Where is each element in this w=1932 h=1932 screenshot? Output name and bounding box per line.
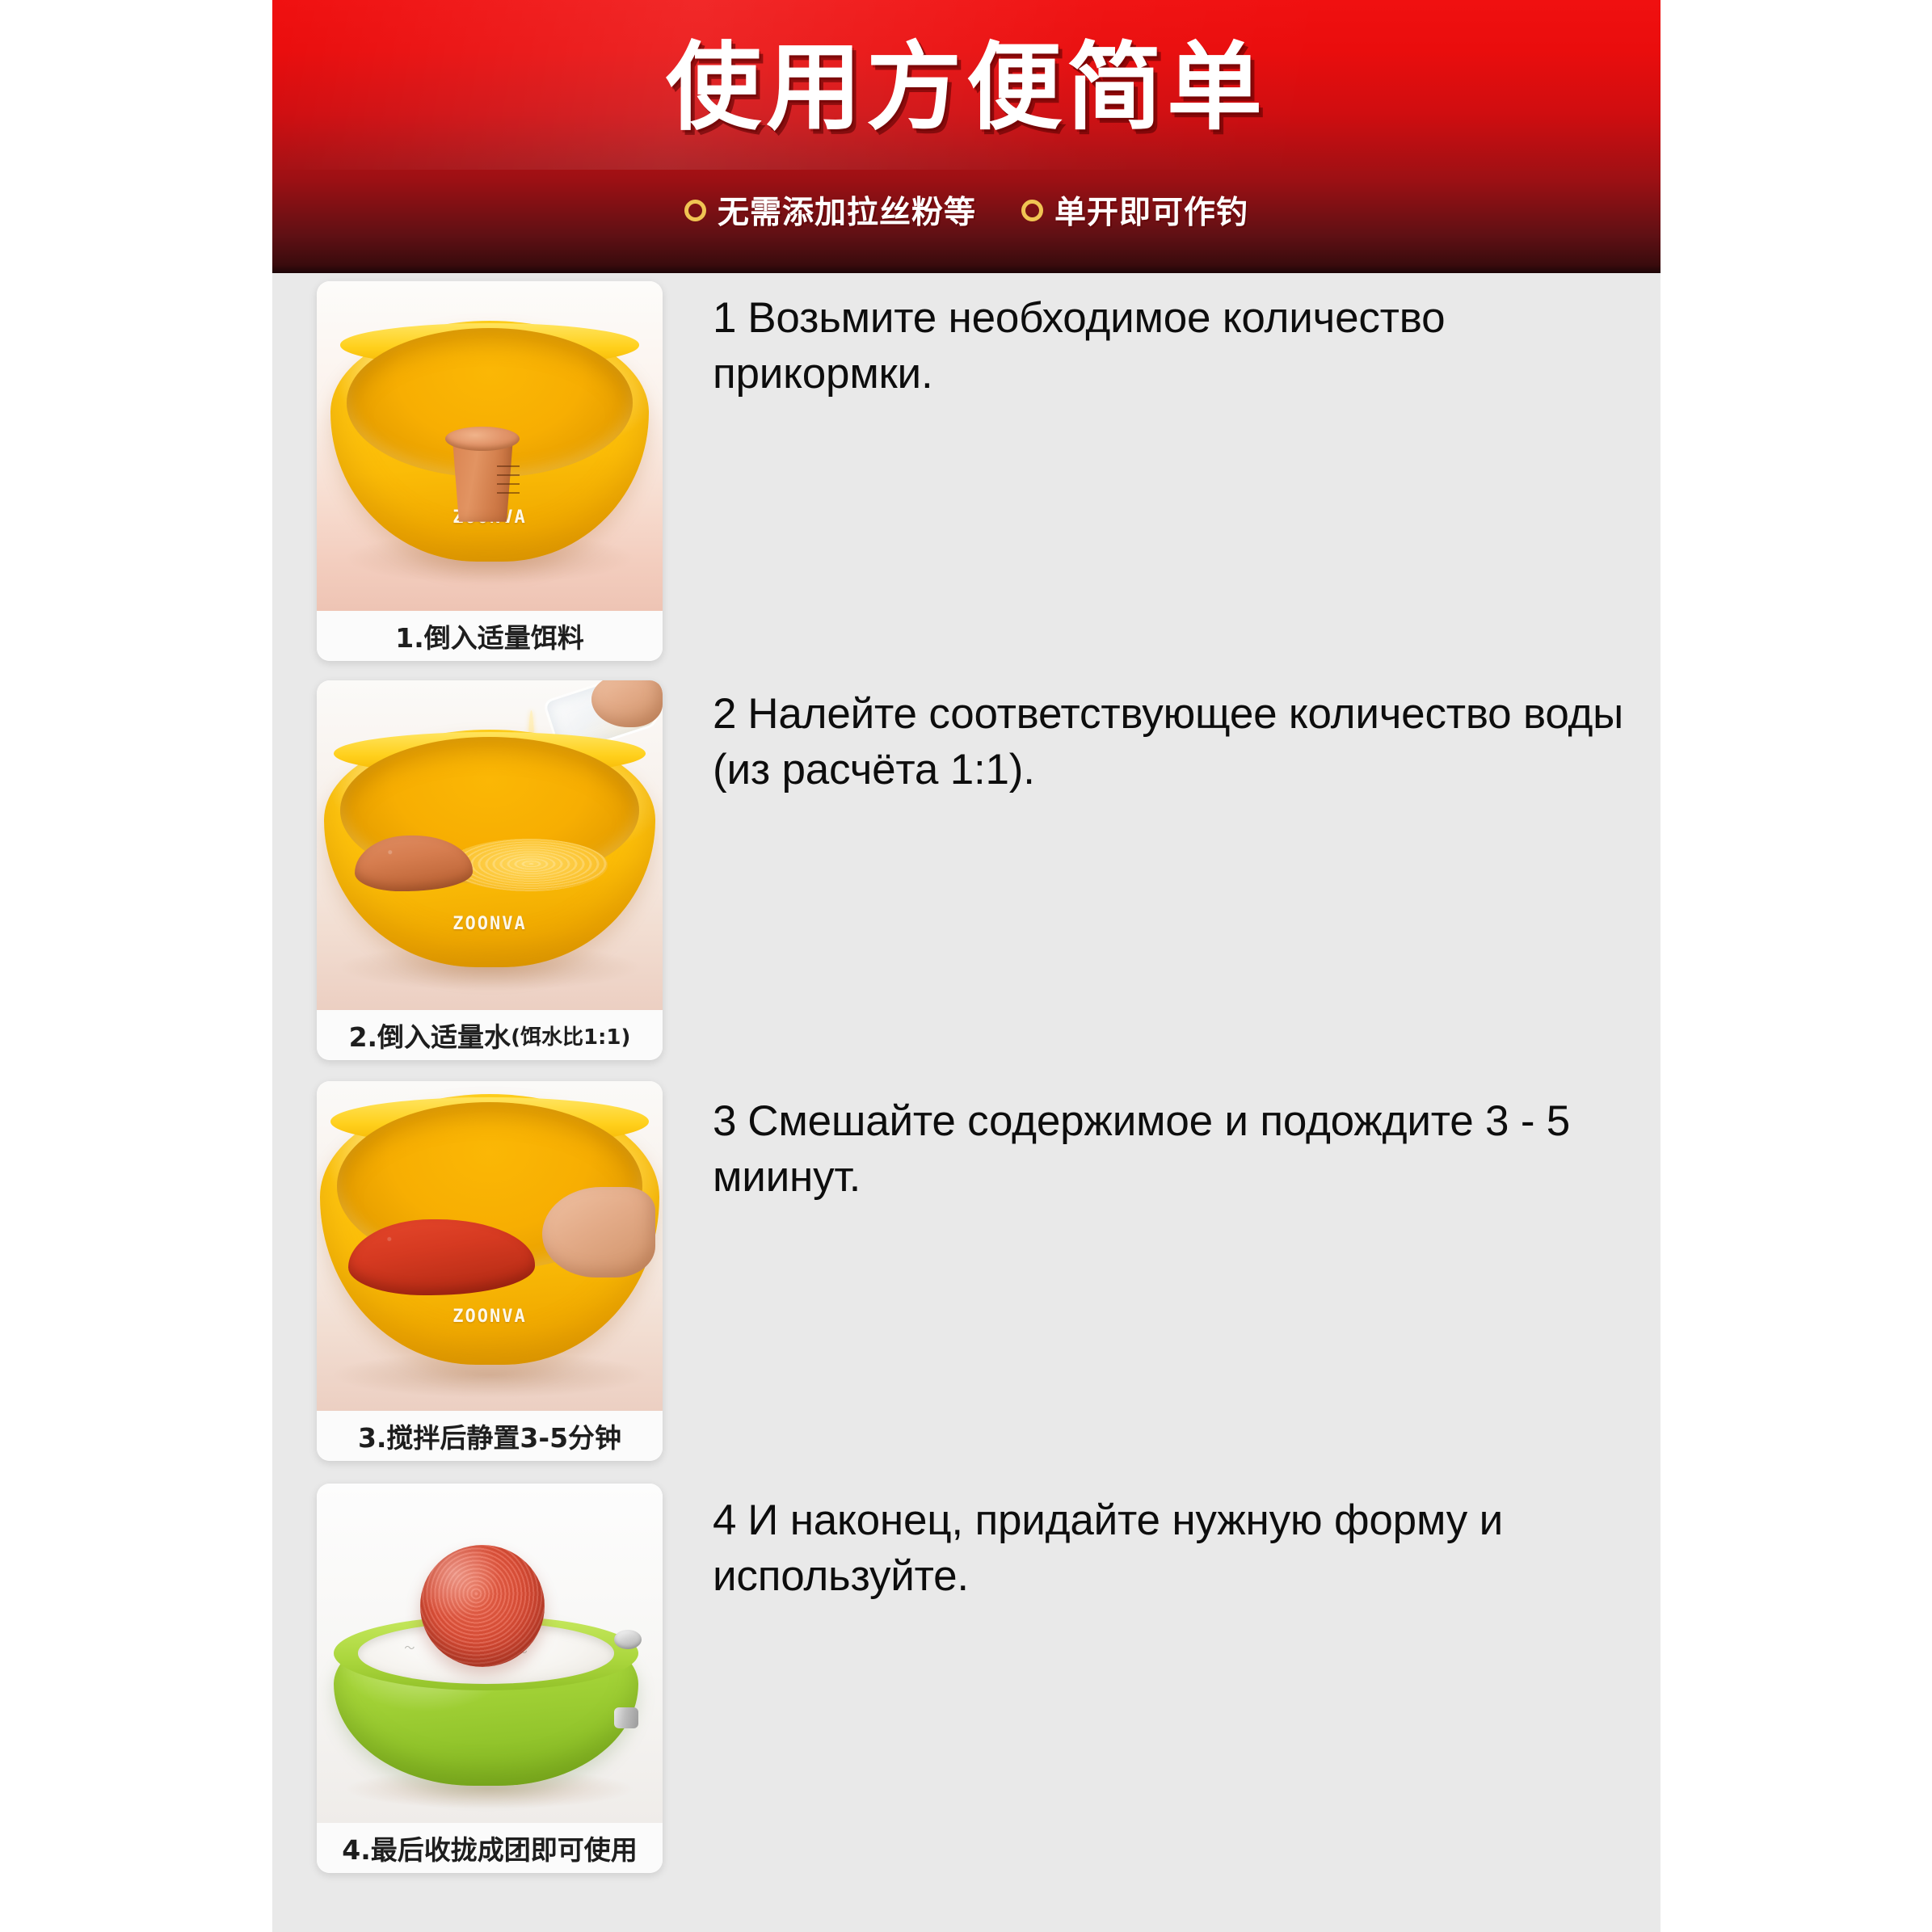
step-3-card: ZOONVA 3.搅拌后静置3-5分钟 bbox=[317, 1081, 663, 1461]
product-instruction-page: 使用方便简单 无需添加拉丝粉等 单开即可作钓 bbox=[0, 0, 1932, 1932]
step-item-2: ZOONVA 2.倒入适量水(饵水比1:1) 2Налейте соответс… bbox=[272, 677, 1661, 1080]
step-4-caption: 4.最后收拢成团即可使用 bbox=[317, 1823, 663, 1873]
measuring-cup-scale-marks bbox=[497, 465, 520, 501]
step-3-description: Смешайте содержимое и подождите 3 - 5 ми… bbox=[713, 1097, 1570, 1201]
bowl-brand-logo: ZOONVA bbox=[324, 914, 656, 934]
step-3-number: 3 bbox=[713, 1097, 736, 1145]
steps-list: ZOONVA 1.倒入适量饵料 1Возьмите необходимое ко… bbox=[272, 273, 1661, 1904]
step-2-caption-main: 2.倒入适量水 bbox=[349, 1016, 511, 1054]
step-4-description: И наконец, придайте нужную форму и испол… bbox=[713, 1496, 1503, 1600]
banner-bullet-2-label: 单开即可作钓 bbox=[1054, 187, 1248, 233]
red-bait-ball bbox=[420, 1545, 545, 1667]
step-item-3: ZOONVA 3.搅拌后静置3-5分钟 3Смешайте содержимое… bbox=[272, 1080, 1661, 1484]
step-1-caption: 1.倒入适量饵料 bbox=[317, 611, 663, 661]
step-2-text: 2Налейте соответствующее количество воды… bbox=[713, 687, 1634, 798]
step-4-card: ～ ～ 4.最后收拢成团即可使用 bbox=[317, 1484, 663, 1873]
device-metal-rod bbox=[614, 1707, 638, 1728]
step-1-photo: ZOONVA bbox=[317, 281, 663, 611]
measuring-cup-bait-top bbox=[445, 427, 520, 451]
step-4-photo: ～ ～ bbox=[317, 1484, 663, 1823]
step-2-photo: ZOONVA bbox=[317, 680, 663, 1010]
step-1-text: 1Возьмите необходимое количество прикорм… bbox=[713, 291, 1634, 402]
step-1-caption-main: 1.倒入适量饵料 bbox=[395, 617, 584, 655]
step-3-caption: 3.搅拌后静置3-5分钟 bbox=[317, 1411, 663, 1461]
step-item-4: ～ ～ 4.最后收拢成团即可使用 4И наконец, придайте ну… bbox=[272, 1484, 1661, 1904]
banner-bullet-1-label: 无需添加拉丝粉等 bbox=[718, 187, 976, 233]
step-3-text: 3Смешайте содержимое и подождите 3 - 5 м… bbox=[713, 1094, 1634, 1206]
step-3-caption-main: 3.搅拌后静置3-5分钟 bbox=[358, 1416, 621, 1455]
step-2-description: Налейте соответствующее количество воды … bbox=[713, 690, 1623, 793]
hand-mixing-bait bbox=[542, 1187, 655, 1277]
banner-title: 使用方便简单 bbox=[272, 39, 1661, 136]
circle-outline-icon bbox=[1021, 200, 1043, 221]
step-1-description: Возьмите необходимое количество прикормк… bbox=[713, 294, 1445, 398]
bowl-brand-logo: ZOONVA bbox=[320, 1307, 659, 1327]
step-4-caption-main: 4.最后收拢成团即可使用 bbox=[342, 1829, 638, 1867]
banner-bullet-list: 无需添加拉丝粉等 单开即可作钓 bbox=[272, 187, 1661, 233]
banner-bullet-1: 无需添加拉丝粉等 bbox=[684, 187, 976, 233]
device-metal-knob bbox=[614, 1630, 642, 1649]
header-banner: 使用方便简单 无需添加拉丝粉等 单开即可作钓 bbox=[272, 0, 1661, 273]
circle-outline-icon bbox=[684, 200, 706, 221]
banner-bullet-2: 单开即可作钓 bbox=[1021, 187, 1248, 233]
step-1-card: ZOONVA 1.倒入适量饵料 bbox=[317, 281, 663, 661]
step-2-card: ZOONVA 2.倒入适量水(饵水比1:1) bbox=[317, 680, 663, 1060]
step-2-number: 2 bbox=[713, 690, 736, 738]
disc-texture-mark: ～ bbox=[404, 1639, 415, 1655]
step-1-number: 1 bbox=[713, 294, 736, 342]
step-2-caption: 2.倒入适量水(饵水比1:1) bbox=[317, 1010, 663, 1060]
step-item-1: ZOONVA 1.倒入适量饵料 1Возьмите необходимое ко… bbox=[272, 273, 1661, 677]
step-4-number: 4 bbox=[713, 1496, 736, 1544]
step-3-photo: ZOONVA bbox=[317, 1081, 663, 1411]
step-2-caption-sub: (饵水比1:1) bbox=[511, 1021, 630, 1050]
step-4-text: 4И наконец, придайте нужную форму и испо… bbox=[713, 1493, 1634, 1605]
